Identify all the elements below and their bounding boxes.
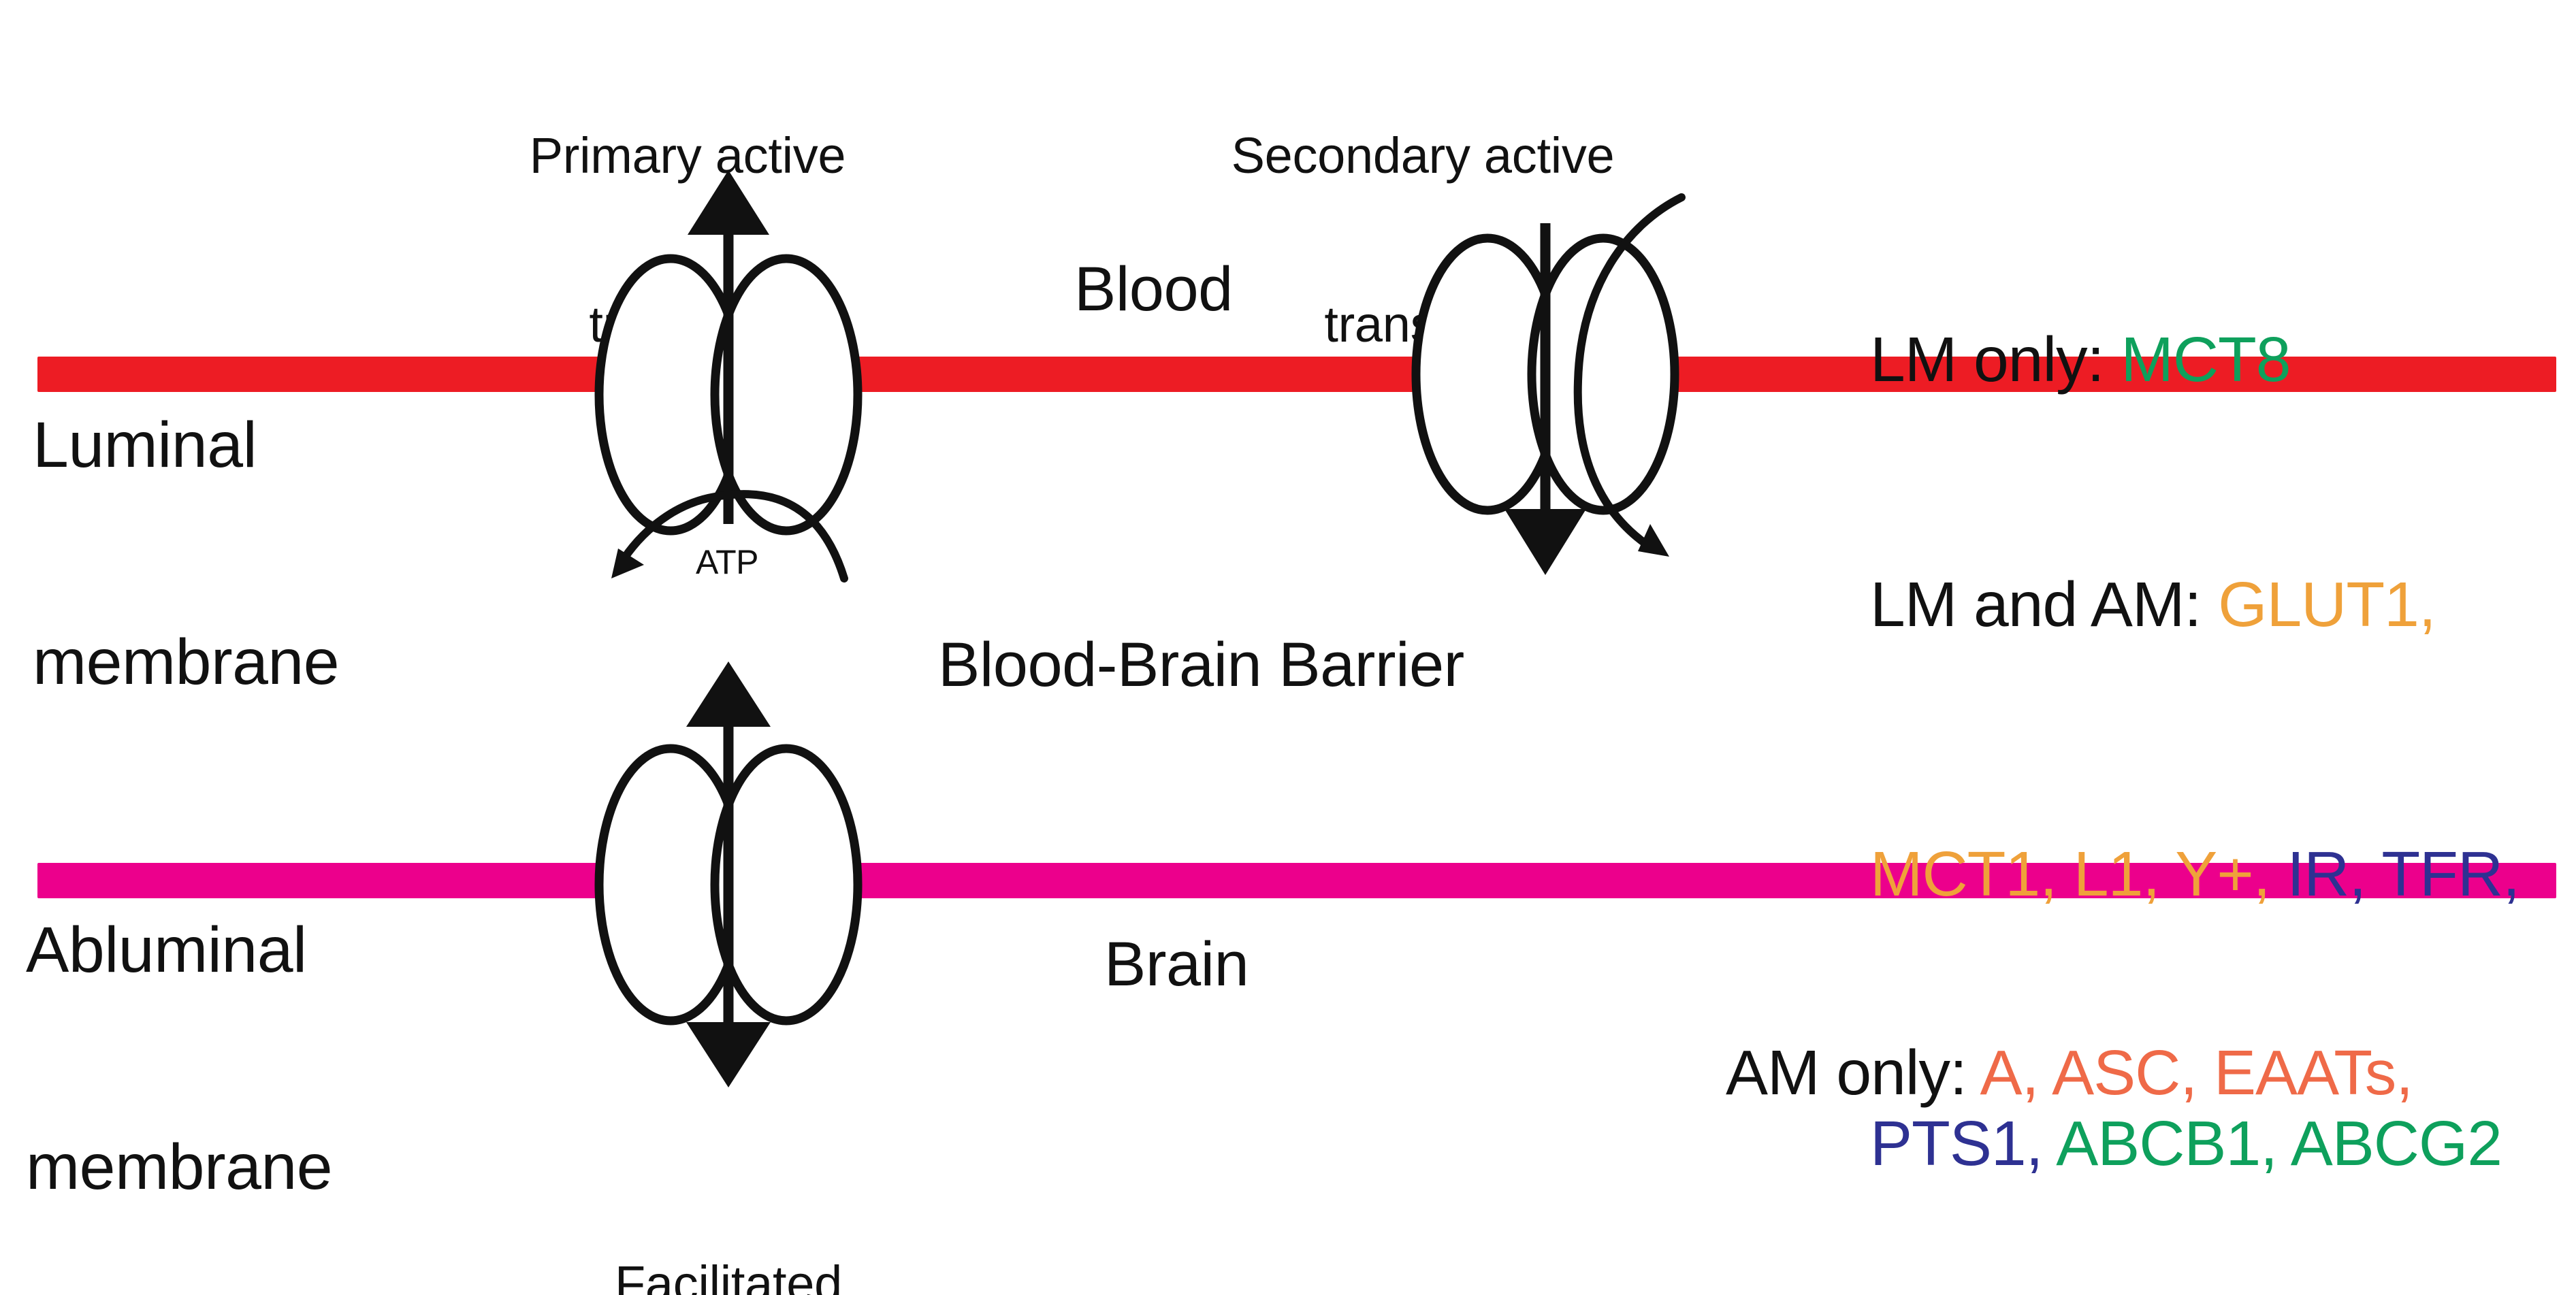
primary-active-transport-caption-line2: transport — [477, 297, 899, 353]
blood-brain-barrier-title: Blood-Brain Barrier — [938, 633, 1464, 698]
primary-active-transport-caption-line1: Primary active — [477, 128, 899, 184]
brain-compartment-label: Brain — [1104, 932, 1249, 998]
legend-lm-and-am-token-1-0: MCT1, L1, Y+, — [1870, 838, 2270, 909]
legend-am-only: AM only: A, ASC, EAATs, LRP1, OATP1C1, N… — [1624, 938, 2576, 1295]
luminal-membrane-label: Luminal membrane — [33, 264, 339, 843]
legend-lm-and-am-token-1-1: IR, TFR, — [2270, 838, 2519, 909]
legend-lm-only-token-0-0: MCT8 — [2104, 324, 2291, 395]
facilitated-transport-caption: Facilitated transport — [517, 1143, 939, 1295]
secondary-active-transport-caption-line2: transport — [1157, 297, 1688, 353]
legend-am-only-token-0-0: A, ASC, EAATs, — [1967, 1037, 2413, 1108]
luminal-membrane-label-line2: membrane — [33, 626, 339, 698]
legend-lm-and-am-token-0-0: GLUT1, — [2201, 569, 2435, 640]
abluminal-membrane-label-line1: Abluminal — [26, 914, 332, 986]
luminal-membrane-label-line1: Luminal — [33, 409, 339, 481]
primary-active-transport-caption: Primary active transport — [477, 15, 899, 466]
legend-lm-and-am-line-0: LM and AM: GLUT1, — [1769, 470, 2576, 739]
facilitated-transport-caption-line1: Facilitated — [517, 1256, 939, 1295]
secondary-active-transport-caption-line1: Secondary active — [1157, 128, 1688, 184]
atp-label: ATP — [696, 544, 758, 580]
legend-am-only-heading: AM only: — [1726, 1037, 1967, 1108]
legend-lm-and-am-heading: LM and AM: — [1870, 569, 2201, 640]
abluminal-membrane-label: Abluminal membrane — [26, 769, 332, 1295]
legend-lm-only-line-0: LM only: MCT8 — [1769, 225, 2572, 494]
legend-am-only-line-1: LRP1, OATP1C1, Na+, K+, — [1624, 1207, 2576, 1295]
legend-lm-only: LM only: MCT8 — [1769, 225, 2572, 494]
legend-am-only-line-0: AM only: A, ASC, EAATs, — [1624, 938, 2576, 1207]
legend-lm-only-heading: LM only: — [1870, 324, 2104, 395]
secondary-active-transport-caption: Secondary active transport — [1157, 15, 1688, 466]
abluminal-membrane-label-line2: membrane — [26, 1131, 332, 1203]
diagram-canvas: Luminal membrane Blood Abluminal membran… — [0, 0, 2576, 1295]
